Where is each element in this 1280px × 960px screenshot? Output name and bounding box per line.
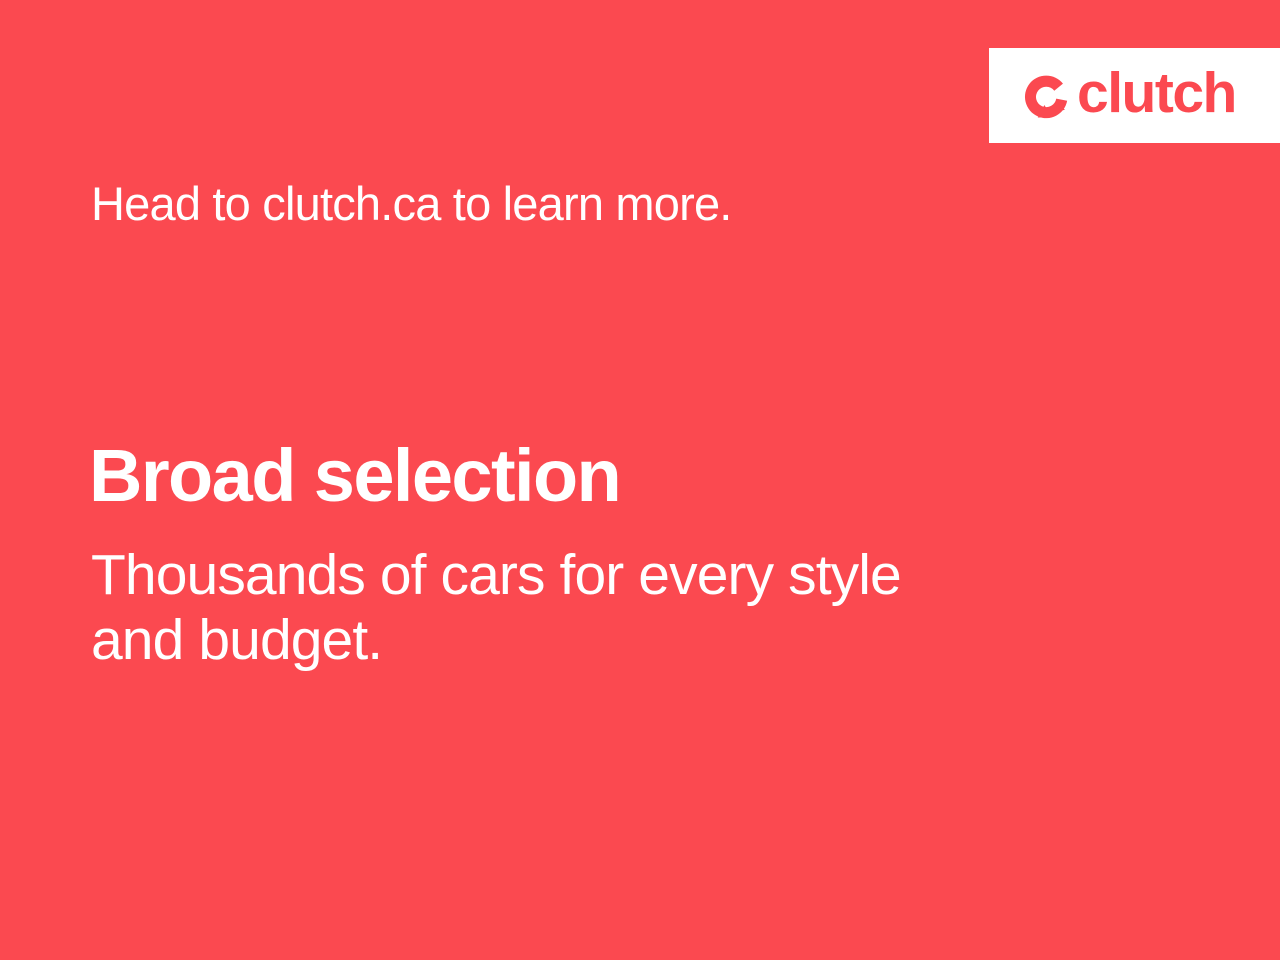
clutch-logo-lockup[interactable]: clutch [1019,68,1236,124]
headline-text: Broad selection [89,437,620,515]
promo-slide: clutch Head to clutch.ca to learn more. … [0,0,1280,960]
clutch-wordmark: clutch [1077,65,1236,122]
subtext-line-1: Thousands of cars for every style [91,543,1051,608]
clutch-plate-c-mark-icon [1019,68,1075,124]
subtext-block: Thousands of cars for every style and bu… [91,543,1051,673]
brand-logo-plate: clutch [989,48,1280,143]
tagline-text: Head to clutch.ca to learn more. [91,178,732,231]
subtext-line-2: and budget. [91,608,1051,673]
